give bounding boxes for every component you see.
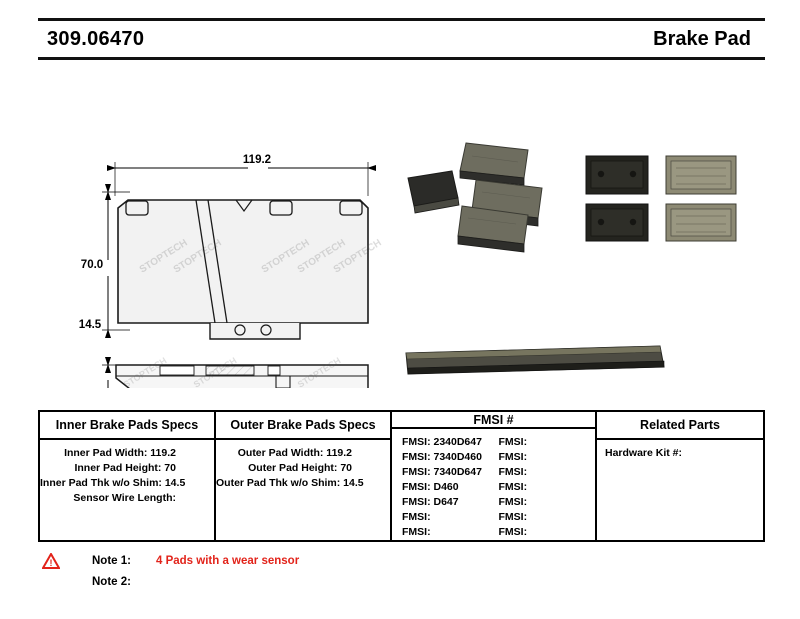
spec-row: Inner Pad Height: 70 [40,461,214,476]
fmsi-row: FMSI: 7340D460 [402,450,499,465]
fmsi-body: FMSI: 2340D647 FMSI: 7340D460 FMSI: 7340… [392,429,595,540]
related-parts-header: Related Parts [597,412,763,440]
fmsi-row: FMSI: [402,525,499,540]
related-parts-body: Hardware Kit #: [597,440,763,461]
note-1-label: Note 1: [64,555,150,567]
fmsi-row: FMSI: [499,510,596,525]
note-row-2: Note 2: [38,571,538,592]
fmsi-row: FMSI: 7340D647 [402,465,499,480]
dim-width-label: 119.2 [243,154,271,166]
fmsi-row: FMSI: [499,465,596,480]
fmsi-column: FMSI # FMSI: 2340D647 FMSI: 7340D460 FMS… [392,412,597,540]
fmsi-row: FMSI: [402,510,499,525]
fmsi-row: FMSI: [499,525,596,540]
pad-photo-side [406,346,664,374]
spec-row: Sensor Wire Length: [40,491,214,506]
fmsi-row: FMSI: D647 [402,495,499,510]
dim-height-label: 70.0 [81,259,103,271]
note-row-1: ! Note 1: 4 Pads with a wear sensor [38,550,538,571]
inner-pads-specs-body: Inner Pad Width: 119.2 Inner Pad Height:… [40,440,214,540]
svg-text:!: ! [50,558,53,568]
pad-photo-right [586,156,736,241]
outer-pads-specs-body: Outer Pad Width: 119.2 Outer Pad Height:… [216,440,390,540]
part-number: 309.06470 [38,28,144,51]
warning-icon: ! [38,553,64,569]
fmsi-row: FMSI: D460 [402,480,499,495]
outer-pads-specs-column: Outer Brake Pads Specs Outer Pad Width: … [216,412,392,540]
dimension-width [115,162,368,196]
notes-section: ! Note 1: 4 Pads with a wear sensor Note… [38,550,538,592]
technical-drawing: 119.2 70.0 STOPTECH STOPTECH STOPTECH ST… [0,58,800,388]
fmsi-row: FMSI: [499,450,596,465]
fmsi-left-column: FMSI: 2340D647 FMSI: 7340D460 FMSI: 7340… [402,435,499,540]
spec-row: Outer Pad Width: 119.2 [216,446,390,461]
spec-row: Outer Pad Thk w/o Shim: 14.5 [216,476,390,491]
note-2-label: Note 2: [64,576,150,588]
dim-thickness-label: 14.5 [79,319,102,331]
inner-pads-specs-column: Inner Brake Pads Specs Inner Pad Width: … [40,412,216,540]
document-title: Brake Pad [653,28,765,51]
fmsi-row: FMSI: 2340D647 [402,435,499,450]
fmsi-right-column: FMSI: FMSI: FMSI: FMSI: FMSI: FMSI: FMSI… [499,435,596,540]
pad-photo-left [408,143,542,252]
spec-row: Outer Pad Height: 70 [216,461,390,476]
fmsi-header: FMSI # [392,412,595,429]
fmsi-row: FMSI: [499,480,596,495]
pad-front-view: STOPTECH STOPTECH STOPTECH STOPTECH STOP… [118,200,384,339]
spec-row: Inner Pad Thk w/o Shim: 14.5 [40,476,214,491]
inner-pads-specs-header: Inner Brake Pads Specs [40,412,214,440]
outer-pads-specs-header: Outer Brake Pads Specs [216,412,390,440]
related-parts-column: Related Parts Hardware Kit #: [597,412,763,540]
specs-tables: Inner Brake Pads Specs Inner Pad Width: … [38,410,765,542]
spec-row: Inner Pad Width: 119.2 [40,446,214,461]
fmsi-row: FMSI: [499,495,596,510]
note-1-text: 4 Pads with a wear sensor [150,555,299,567]
fmsi-row: FMSI: [499,435,596,450]
related-row: Hardware Kit #: [605,446,763,461]
pad-side-view: STOPTECH STOPTECH STOPTECH [116,355,368,388]
document-header: 309.06470 Brake Pad [38,18,765,60]
